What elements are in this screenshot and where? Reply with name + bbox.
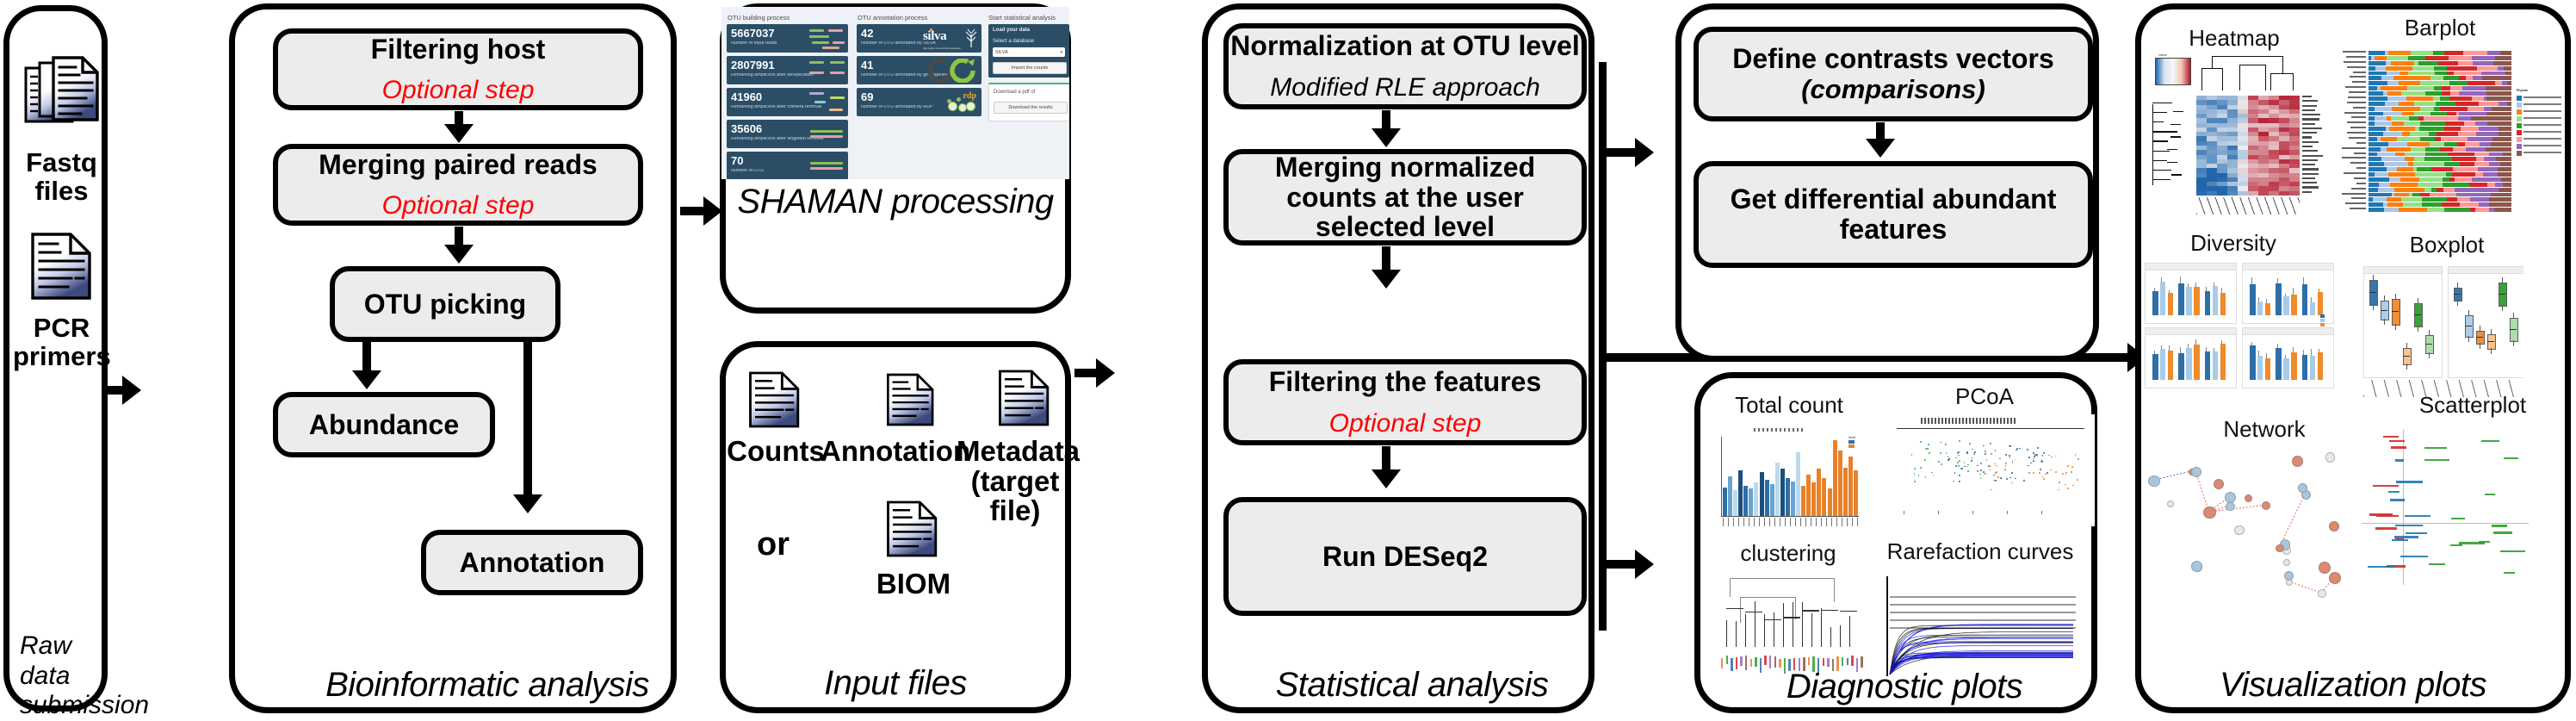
plot-pcoa bbox=[1869, 414, 2095, 526]
connector-spine-statistical bbox=[1599, 62, 1607, 631]
card-caption: Remaining amplicons after singleton remo… bbox=[731, 137, 824, 142]
import-counts-label: Import the counts bbox=[1012, 65, 1049, 71]
step-define-contrasts[interactable]: Define contrasts vectors (comparisons) bbox=[1694, 27, 2093, 121]
step-abundance[interactable]: Abundance bbox=[273, 392, 495, 457]
shaman-card[interactable]: 2807991 Remaining amplicons after derepl… bbox=[727, 56, 848, 84]
panel-raw-data: Fastq files bbox=[3, 5, 108, 712]
download-header: Download a pdf of bbox=[994, 90, 1035, 95]
card-value: 41 bbox=[861, 59, 873, 71]
step-run-deseq2[interactable]: Run DESeq2 bbox=[1223, 497, 1587, 616]
panel-input-files: Counts Annotation Metadata (target file)… bbox=[720, 341, 1071, 713]
card-value: 2807991 bbox=[731, 59, 775, 71]
shaman-screenshot: OTU building process OTU annotation proc… bbox=[721, 7, 1069, 179]
viz-plot-title-boxplot: Boxplot bbox=[2374, 232, 2520, 258]
download-results-label: Download the results bbox=[1008, 105, 1052, 110]
step-title: Merging normalized counts at the user se… bbox=[1229, 152, 1582, 242]
step-title: Filtering the features bbox=[1269, 367, 1542, 397]
step-annotation[interactable]: Annotation bbox=[421, 530, 643, 595]
step-filtering-features[interactable]: Filtering the features Optional step bbox=[1223, 359, 1587, 445]
input-file-label-counts: Counts bbox=[726, 437, 826, 467]
card-caption: Number of OTU bbox=[731, 169, 824, 174]
step-title: Run DESeq2 bbox=[1322, 542, 1488, 572]
step-title: Define contrasts vectors bbox=[1732, 44, 2053, 74]
step-title: Abundance bbox=[309, 410, 459, 440]
plot-diversity bbox=[2143, 261, 2338, 399]
arrow-otu-to-abundance bbox=[362, 342, 371, 373]
step-otu-picking[interactable]: OTU picking bbox=[330, 266, 560, 342]
card-caption: Number of input reads bbox=[731, 41, 824, 47]
card-value: 69 bbox=[861, 91, 873, 103]
panel-visualization-plots: Heatmap Value Barplot Phylum Diversity bbox=[2135, 3, 2571, 713]
step-merging-normalized-counts[interactable]: Merging normalized counts at the user se… bbox=[1223, 149, 1587, 246]
step-normalization[interactable]: Normalization at OTU level Modified RLE … bbox=[1223, 23, 1587, 109]
arrow-filtering-to-merging bbox=[455, 111, 463, 127]
diagnostic-plot-title-total-count: Total count bbox=[1707, 392, 1871, 419]
arrow-statistical-to-differential bbox=[1603, 148, 1636, 157]
plot-boxplot bbox=[2351, 263, 2523, 401]
arrow-inputs-to-statistical bbox=[1074, 369, 1097, 377]
diagnostic-plot-title-pcoa: PCoA bbox=[1873, 383, 2096, 410]
greengenes-logo-icon bbox=[928, 59, 978, 83]
card-value: 42 bbox=[861, 28, 873, 39]
shaman-download-panel: Download a pdf of Download the results bbox=[988, 83, 1069, 121]
panel-label-shaman: SHAMAN processing bbox=[726, 183, 1065, 221]
step-filtering-host[interactable]: Filtering host Optional step bbox=[273, 28, 643, 110]
shaman-card[interactable]: 69 Number of OTU annotated by RDP rdp bbox=[857, 88, 981, 116]
shaman-card[interactable]: 5667037 Number of input reads bbox=[727, 24, 848, 53]
document-icon bbox=[748, 370, 802, 434]
arrow-merging-to-filtering bbox=[1382, 246, 1390, 272]
workflow-figure: Fastq files bbox=[0, 0, 2576, 717]
multi-document-icon bbox=[18, 56, 104, 146]
panel-label-input-files: Input files bbox=[726, 666, 1065, 700]
plot-clustering bbox=[1706, 569, 1871, 681]
download-results-button[interactable]: Download the results bbox=[994, 102, 1068, 114]
chevron-down-icon: ▾ bbox=[1060, 50, 1062, 55]
arrow-raw-to-bioinformatic bbox=[108, 386, 123, 395]
plot-scatterplot bbox=[2360, 426, 2532, 590]
heatmap-colorbar bbox=[2155, 58, 2191, 85]
arrow-contrasts-to-features bbox=[1876, 122, 1885, 141]
arrow-otu-to-annotation bbox=[523, 342, 532, 497]
import-counts-button[interactable]: Import the counts bbox=[993, 62, 1067, 74]
step-get-differential-features[interactable]: Get differential abundant features bbox=[1694, 161, 2093, 268]
input-file-label-metadata: Metadata (target file) bbox=[957, 437, 1074, 526]
card-value: 5667037 bbox=[731, 28, 775, 39]
card-caption: Remaining amplicons after dereplication bbox=[731, 73, 824, 78]
plot-rarefaction bbox=[1883, 573, 2079, 680]
step-note: Modified RLE approach bbox=[1270, 73, 1540, 102]
rdp-logo-icon: rdp bbox=[937, 91, 978, 114]
card-caption: Remaining amplicons after chimera remova… bbox=[731, 105, 824, 110]
shaman-card[interactable]: 41960 Remaining amplicons after chimera … bbox=[727, 88, 848, 116]
panel-label-raw-data: Raw data submission bbox=[20, 631, 111, 721]
step-title: Normalization at OTU level bbox=[1230, 31, 1579, 61]
panel-label-visualization: Visualization plots bbox=[2141, 668, 2565, 702]
document-icon bbox=[30, 232, 94, 305]
step-note: Optional step bbox=[382, 76, 535, 104]
viz-plot-title-diversity: Diversity bbox=[2160, 230, 2307, 257]
viz-plot-title-heatmap: Heatmap bbox=[2165, 25, 2303, 52]
silva-logo-icon: silva high quality ribosomal RNA databas… bbox=[921, 28, 980, 50]
arrow-merging-to-otu bbox=[455, 227, 463, 247]
step-title: Annotation bbox=[460, 548, 605, 578]
panel-bioinformatic-analysis: Filtering host Optional step Merging pai… bbox=[229, 3, 677, 713]
step-note: Optional step bbox=[382, 191, 535, 220]
panel-label-shaman-text: SHAMAN processing bbox=[737, 183, 1053, 221]
viz-plot-title-scatterplot: Scatterplot bbox=[2391, 392, 2554, 419]
input-file-label-biom: BIOM bbox=[855, 569, 972, 600]
raw-data-item-label-0: Fastq files bbox=[9, 149, 114, 205]
input-files-or-label: or bbox=[734, 528, 812, 563]
plot-network bbox=[2143, 444, 2346, 625]
load-data-label: Load your data bbox=[993, 28, 1030, 33]
plot-heatmap: Value bbox=[2150, 51, 2331, 216]
step-title: Merging paired reads bbox=[319, 150, 598, 180]
shaman-stats-header: Start statistical analysis bbox=[988, 14, 1056, 22]
arrow-bioinformatic-to-shaman bbox=[680, 207, 704, 215]
document-icon bbox=[886, 371, 936, 432]
shaman-card[interactable]: 42 Number of OTU annotated by SILVA silv… bbox=[857, 24, 981, 53]
database-select[interactable]: SILVA ▾ bbox=[993, 47, 1065, 57]
shaman-load-data-panel: Load your data Select a database SILVA ▾… bbox=[988, 24, 1069, 78]
plot-barplot: Phylum bbox=[2339, 47, 2565, 220]
arrow-statistical-to-diagnostic bbox=[1603, 560, 1636, 569]
diagnostic-plot-title-rarefaction: Rarefaction curves bbox=[1873, 538, 2088, 565]
input-file-label-annotation: Annotation bbox=[820, 437, 960, 467]
shaman-card[interactable]: 41 Number of OTU annotated by greengenes bbox=[857, 56, 981, 84]
plot-total-count: level bbox=[1706, 423, 1869, 526]
panel-label-statistical: Statistical analysis bbox=[1208, 668, 1602, 702]
viz-plot-title-network: Network bbox=[2191, 416, 2338, 443]
card-value: 41960 bbox=[731, 91, 762, 103]
diagnostic-plot-title-clustering: clustering bbox=[1711, 540, 1866, 567]
step-merging-paired-reads[interactable]: Merging paired reads Optional step bbox=[273, 144, 643, 226]
panel-diagnostic-plots: Total count level PCoA clustering Rare bbox=[1694, 372, 2097, 713]
step-title: Get differential abundant features bbox=[1699, 184, 2088, 244]
document-icon bbox=[886, 499, 939, 563]
shaman-card[interactable]: 70 Number of OTU bbox=[727, 152, 848, 179]
card-value: 35606 bbox=[731, 123, 762, 134]
raw-data-item-label-1: PCR primers bbox=[13, 314, 110, 370]
arrow-normalization-to-merging bbox=[1382, 110, 1390, 131]
shaman-column-header-1: OTU annotation process bbox=[858, 14, 927, 22]
panel-label-bioinformatic: Bioinformatic analysis bbox=[235, 668, 705, 702]
step-title: OTU picking bbox=[364, 289, 526, 320]
panel-statistical-analysis: Normalization at OTU level Modified RLE … bbox=[1202, 3, 1595, 713]
shaman-card[interactable]: 35606 Remaining amplicons after singleto… bbox=[727, 120, 848, 148]
arrow-filtering-to-deseq bbox=[1382, 446, 1390, 472]
card-value: 70 bbox=[731, 155, 743, 166]
panel-differential-analysis: Define contrasts vectors (comparisons) G… bbox=[1675, 3, 2099, 362]
shaman-column-header-0: OTU building process bbox=[728, 14, 790, 22]
database-select-value: SILVA bbox=[995, 50, 1008, 55]
step-title: Filtering host bbox=[371, 34, 546, 65]
select-database-label: Select a database bbox=[993, 39, 1034, 44]
viz-plot-title-barplot: Barplot bbox=[2367, 15, 2513, 41]
document-icon bbox=[998, 368, 1051, 432]
step-note: (comparisons) bbox=[1801, 75, 1985, 104]
panel-label-diagnostic: Diagnostic plots bbox=[1700, 669, 2100, 704]
step-note: Optional step bbox=[1329, 409, 1482, 438]
panel-shaman-processing: OTU building process OTU annotation proc… bbox=[720, 3, 1071, 314]
